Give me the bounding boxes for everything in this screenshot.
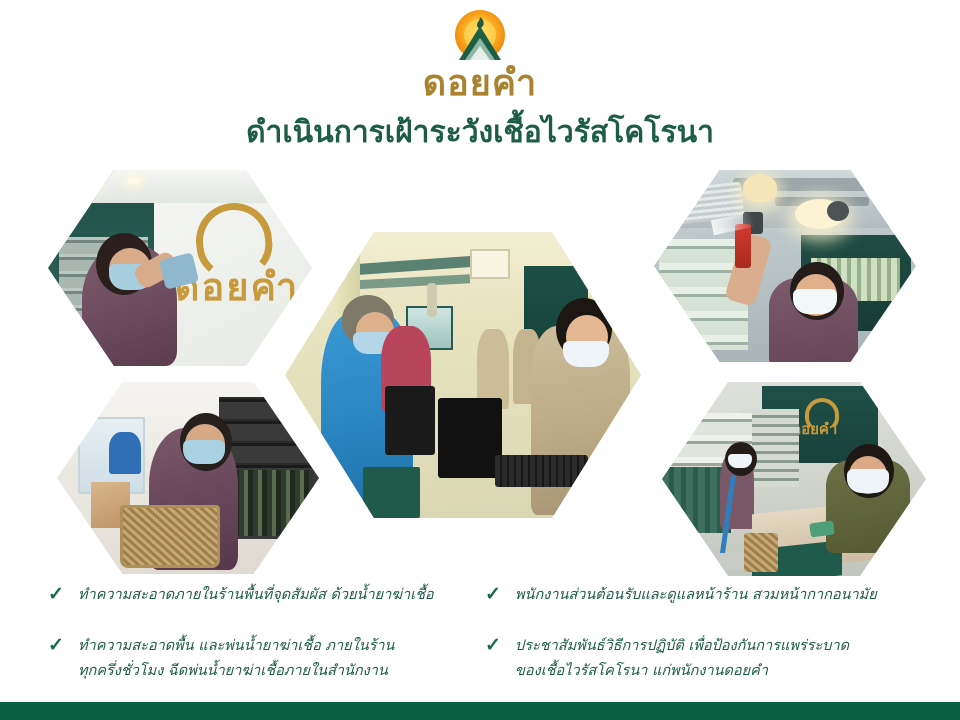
photo-staff-wiping-counter: ดอยคำ — [662, 382, 926, 576]
bullet-item: ✓ พนักงานส่วนต้อนรับและดูแลหน้าร้าน สวมห… — [485, 583, 935, 608]
hexagon-photo-collage: ดอยคำ — [0, 0, 960, 580]
photo-hexagon-top-right — [654, 170, 916, 362]
bullet-text: ทำความสะอาดพื้น และพ่นน้ำยาฆ่าเชื้อ ภายใ… — [78, 634, 394, 684]
check-icon: ✓ — [485, 634, 515, 658]
photo-hexagon-top-left: ดอยคำ — [48, 170, 312, 366]
bullet-item: ✓ ประชาสัมพันธ์วิธีการปฏิบัติ เพื่อป้องก… — [485, 634, 935, 684]
photo-staff-with-basket-at-counter — [57, 382, 319, 574]
bullet-text: ประชาสัมพันธ์วิธีการปฏิบัติ เพื่อป้องกัน… — [515, 634, 849, 684]
footer-band — [0, 702, 960, 720]
photo-cashier-serving-customers — [285, 232, 641, 518]
bullet-list-right: ✓ พนักงานส่วนต้อนรับและดูแลหน้าร้าน สวมห… — [485, 583, 935, 710]
check-icon: ✓ — [48, 634, 78, 658]
check-icon: ✓ — [48, 583, 78, 607]
bullet-item: ✓ ทำความสะอาดภายในร้านพื้นที่จุดสัมผัส ด… — [48, 583, 478, 608]
photo-staff-cleaning-storefront-sign: ดอยคำ — [48, 170, 312, 366]
bullet-item: ✓ ทำความสะอาดพื้น และพ่นน้ำยาฆ่าเชื้อ ภา… — [48, 634, 478, 684]
photo-hexagon-center — [285, 232, 641, 518]
photo-hexagon-bottom-right: ดอยคำ — [662, 382, 926, 576]
check-icon: ✓ — [485, 583, 515, 607]
photo-hexagon-bottom-left — [57, 382, 319, 574]
bullet-text: ทำความสะอาดภายในร้านพื้นที่จุดสัมผัส ด้ว… — [78, 583, 434, 608]
bullet-text: พนักงานส่วนต้อนรับและดูแลหน้าร้าน สวมหน้… — [515, 583, 877, 608]
bullet-list-left: ✓ ทำความสะอาดภายในร้านพื้นที่จุดสัมผัส ด… — [48, 583, 478, 710]
photo-staff-spraying-disinfectant — [654, 170, 916, 362]
